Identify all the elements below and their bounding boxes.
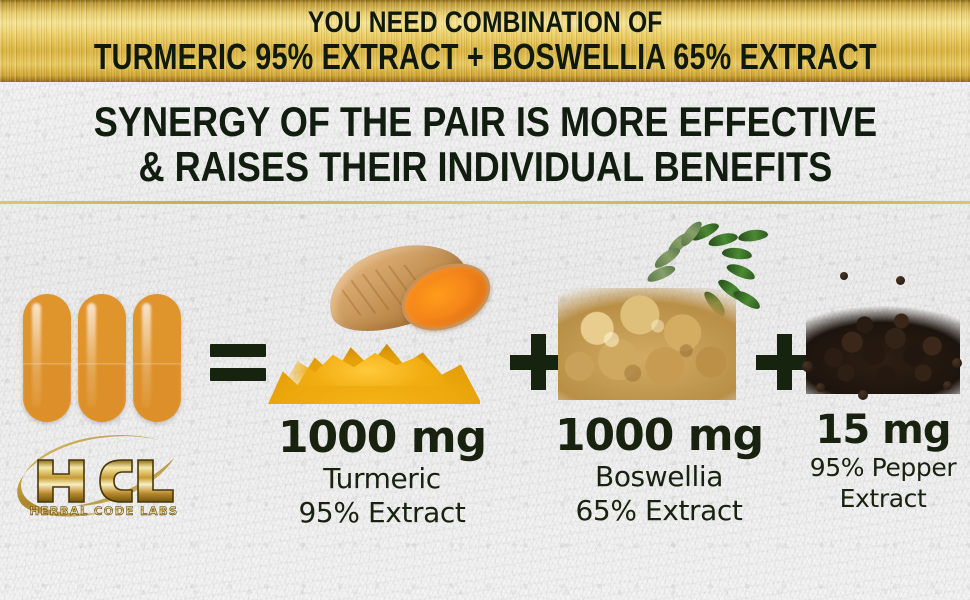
pepper-extract: Extract xyxy=(798,483,968,514)
boswellia-dose: 1000 mg xyxy=(554,412,764,460)
boswellia-extract: 65% Extract xyxy=(554,494,764,528)
subheadline-line-1: SYNERGY OF THE PAIR IS MORE EFFECTIVE xyxy=(93,99,876,144)
capsule-2 xyxy=(78,294,126,422)
boswellia-resin-chunks xyxy=(558,288,736,400)
formula-row: HERBAL CODE LABS 1000 mg Turmeric 95% Ex… xyxy=(0,210,970,600)
turmeric-name: Turmeric xyxy=(262,462,502,496)
ingredient-turmeric: 1000 mg Turmeric 95% Extract xyxy=(262,232,502,530)
subheadline-block: SYNERGY OF THE PAIR IS MORE EFFECTIVE & … xyxy=(0,88,970,200)
capsule-3 xyxy=(133,294,181,422)
subheadline-line-2: & RAISES THEIR INDIVIDUAL BENEFITS xyxy=(138,144,832,189)
ingredient-boswellia: 1000 mg Boswellia 65% Extract xyxy=(554,220,764,528)
hcl-logo-tagline: HERBAL CODE LABS xyxy=(29,504,178,518)
turmeric-extract: 95% Extract xyxy=(262,496,502,530)
banner-line-1: YOU NEED COMBINATION OF xyxy=(308,7,663,38)
boswellia-name: Boswellia xyxy=(554,460,764,494)
capsule-group xyxy=(14,290,190,425)
ingredient-pepper: 15 mg 95% Pepper Extract xyxy=(798,270,968,514)
gold-divider-rule xyxy=(0,201,970,204)
pepper-name: 95% Pepper xyxy=(798,452,968,483)
turmeric-dose: 1000 mg xyxy=(262,414,502,462)
gold-headline-banner: YOU NEED COMBINATION OF TURMERIC 95% EXT… xyxy=(0,0,970,82)
turmeric-powder-highlight xyxy=(280,334,456,386)
boswellia-image xyxy=(556,220,762,406)
capsule-1 xyxy=(23,294,71,422)
turmeric-image xyxy=(264,232,500,408)
hcl-logo: HERBAL CODE LABS xyxy=(14,432,194,524)
hcl-logo-graphic: HERBAL CODE LABS xyxy=(14,432,194,524)
equals-operator xyxy=(207,338,269,386)
pepper-image xyxy=(800,270,966,402)
pepper-dose: 15 mg xyxy=(798,408,968,452)
peppercorn-pile xyxy=(806,298,960,394)
banner-line-2: TURMERIC 95% EXTRACT + BOSWELLIA 65% EXT… xyxy=(94,38,877,76)
